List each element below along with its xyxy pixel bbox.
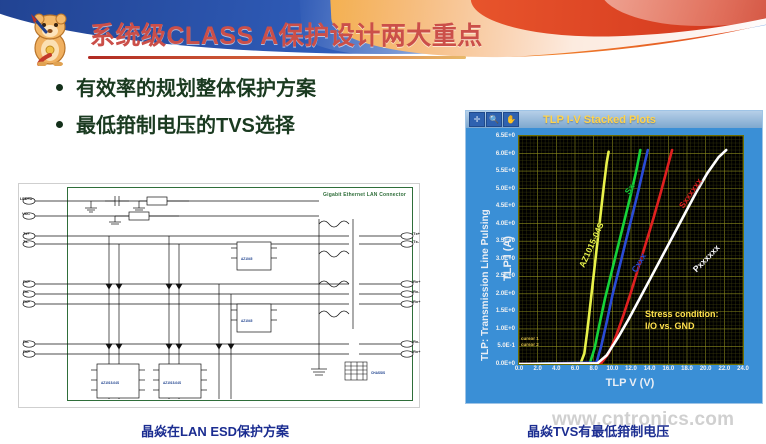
list-item: 有效率的规划整体保护方案	[56, 72, 476, 101]
ic-label: AZ1015-04S	[163, 381, 181, 385]
y-axis-tick: 5.0E+0	[496, 186, 515, 192]
chassis-label: CHASSIS	[371, 371, 385, 375]
chart-toolbar[interactable]: ✛ 🔍 ✋	[469, 112, 519, 127]
y-axis-tick: 2.5E+0	[496, 273, 515, 279]
pin-label: Rx+	[23, 279, 30, 284]
x-axis-tick: 12.0	[625, 366, 637, 372]
x-axis-tick: 18.0	[681, 366, 693, 372]
x-axis-tick: 20.0	[700, 366, 712, 372]
y-axis-tick: 1.5E+0	[496, 308, 515, 314]
y-axis-tick: 5.0E-1	[497, 343, 515, 349]
tlp-chart-panel: ✛ 🔍 ✋ TLP I-V Stacked Plots TLP: Transmi…	[465, 110, 763, 404]
chart-plot-area: Stress condition: I/O vs. GND cursor 1 c…	[518, 135, 744, 365]
chart-annotation: Stress condition: I/O vs. GND	[645, 308, 719, 332]
list-item: 最低箝制电压的TVS选择	[56, 109, 476, 138]
pin-label: Tx-	[23, 239, 28, 244]
pin-label: Rx+	[23, 349, 30, 354]
y-axis-tick: 2.0E+0	[496, 291, 515, 297]
pin-label-right: Rx-	[413, 339, 419, 344]
x-axis-tick: 8.0	[589, 366, 597, 372]
y-axis-tick: 3.0E+0	[496, 256, 515, 262]
cursor-2-label: cursor 2	[521, 342, 539, 348]
x-axis-tick: 16.0	[662, 366, 674, 372]
ribbon-sheen	[600, 0, 766, 26]
pan-hand-icon[interactable]: ✋	[503, 112, 519, 127]
title-underline	[88, 56, 466, 59]
pin-label: Tx+	[23, 231, 29, 236]
y-axis-tick: 1.0E+0	[496, 326, 515, 332]
pin-label: LED+D	[20, 196, 32, 201]
x-axis-tick: 14.0	[644, 366, 656, 372]
x-axis-tick: 24.0	[737, 366, 749, 372]
chart-titlebar: ✛ 🔍 ✋ TLP I-V Stacked Plots	[466, 111, 762, 128]
y-axis-tick: 4.0E+0	[496, 221, 515, 227]
annotation-line-1: Stress condition:	[645, 308, 719, 320]
y-axis-tick: 5.5E+0	[496, 168, 515, 174]
bullet-list: 有效率的规划整体保护方案 最低箝制电压的TVS选择	[56, 72, 476, 146]
bullet-text: 最低箝制电压的TVS选择	[76, 109, 295, 138]
pin-label: Rx-	[23, 289, 29, 294]
pin-label: VCC	[22, 211, 30, 216]
ic-label: AZ1045	[241, 319, 253, 323]
bullet-dot-icon	[56, 121, 63, 128]
zoom-icon[interactable]: 🔍	[486, 112, 502, 127]
caption-left: 晶焱在LAN ESD保护方案	[141, 421, 289, 440]
chart-title: TLP I-V Stacked Plots	[543, 114, 656, 126]
pin-label: Rx-	[23, 339, 29, 344]
pin-label: Rx+	[23, 299, 30, 304]
x-axis-tick: 4.0	[552, 366, 560, 372]
crosshair-icon[interactable]: ✛	[469, 112, 485, 127]
pin-label-right: Rx-	[413, 289, 419, 294]
circuit-schematic: AZ1015-04S AZ1015-04S AZ1045 AZ1045 CHAS…	[19, 184, 419, 407]
page-title: 系统级CLASS A保护设计两大重点	[90, 16, 483, 52]
pin-label-right: Tx-	[413, 239, 419, 244]
y-axis-tick: 6.0E+0	[496, 151, 515, 157]
x-axis-tick: 2.0	[533, 366, 541, 372]
annotation-line-2: I/O vs. GND	[645, 320, 719, 332]
pin-label-right: Rx+	[413, 349, 420, 354]
caption-right: 晶焱TVS有最低箝制电压	[527, 421, 669, 440]
ribbon-red-band	[468, 0, 766, 41]
bullet-dot-icon	[56, 84, 63, 91]
x-axis-tick: 6.0	[571, 366, 579, 372]
x-axis-tick: 0.0	[515, 366, 523, 372]
x-axis-tick: 10.0	[606, 366, 618, 372]
cursor-readout: cursor 1 cursor 2	[521, 336, 539, 348]
mascot-icon	[24, 8, 76, 66]
chart-x-axis-label: TLP V (V)	[518, 377, 742, 389]
y-axis-tick: 6.5E+0	[496, 133, 515, 139]
bullet-text: 有效率的规划整体保护方案	[76, 72, 316, 101]
y-axis-tick: 4.5E+0	[496, 203, 515, 209]
chart-outer-y-label: TLP: Transmission Line Pulsing	[480, 209, 491, 361]
pin-label-right: Tx+	[413, 231, 420, 236]
ic-label: AZ1015-04S	[101, 381, 119, 385]
pin-label-right: Rx+	[413, 279, 420, 284]
y-axis-tick: 3.5E+0	[496, 238, 515, 244]
ic-label: AZ1045	[241, 257, 253, 261]
pin-label-right: Rx+	[413, 299, 420, 304]
x-axis-tick: 22.0	[718, 366, 730, 372]
y-axis-tick: 0.0E+0	[496, 361, 515, 367]
lan-esd-circuit-diagram: Gigabit Ethernet LAN Connector	[18, 183, 420, 408]
